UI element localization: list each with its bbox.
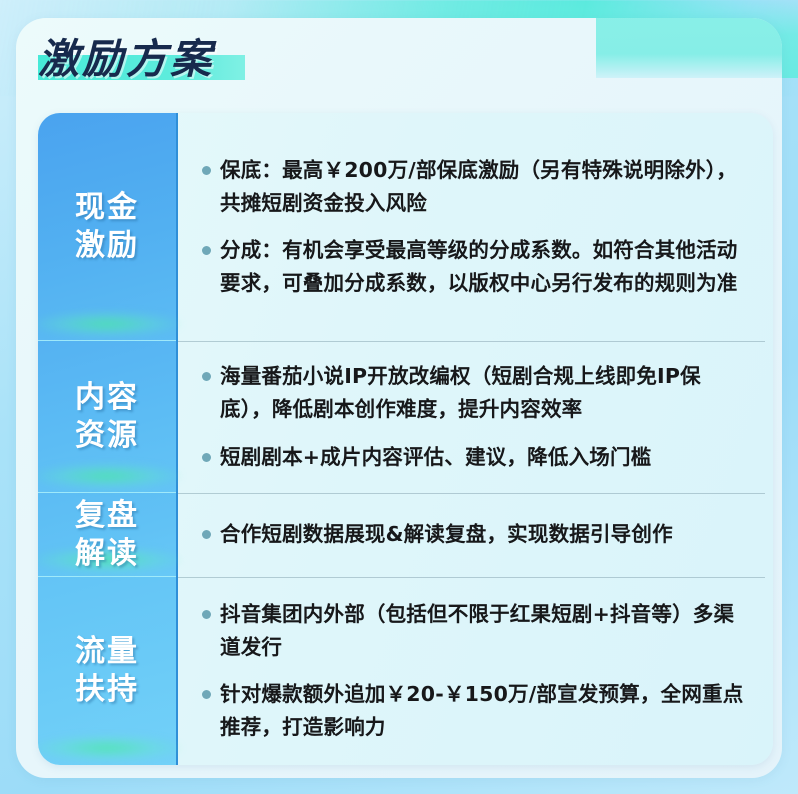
list-item-text: 保底：最高￥200万/部保底激励（另有特殊说明除外），共摊短剧资金投入风险 <box>220 154 747 220</box>
section-label-traffic-support[interactable]: 流量 扶持 <box>38 577 178 765</box>
section-label-text: 现金 激励 <box>75 189 139 266</box>
section-content-traffic-support: 抖音集团内外部（包括但不限于红果短剧+抖音等）多渠道发行 针对爆款额外追加￥20… <box>178 577 773 765</box>
section-label-text: 流量 扶持 <box>75 633 139 710</box>
section-content-review-interpretation: 合作短剧数据展现&解读复盘，实现数据引导创作 <box>178 493 773 577</box>
list-item: 针对爆款额外追加￥20-￥150万/部宣发预算，全网重点推荐，打造影响力 <box>202 678 747 744</box>
list-item-text: 短剧剧本+成片内容评估、建议，降低入场门槛 <box>220 441 651 474</box>
section-label-line1: 复盘 <box>75 497 139 535</box>
bullet-dot-icon <box>202 610 211 619</box>
page-title-group: 激励方案 <box>38 24 214 86</box>
bullet-dot-icon <box>202 372 211 381</box>
section-content-cash-incentive: 保底：最高￥200万/部保底激励（另有特殊说明除外），共摊短剧资金投入风险 分成… <box>178 113 773 341</box>
label-glow <box>38 735 182 761</box>
table-row: 复盘 解读 合作短剧数据展现&解读复盘，实现数据引导创作 <box>38 493 773 577</box>
bullet-dot-icon <box>202 453 211 462</box>
list-item-text: 针对爆款额外追加￥20-￥150万/部宣发预算，全网重点推荐，打造影响力 <box>220 678 747 744</box>
list-item: 海量番茄小说IP开放改编权（短剧合规上线即免IP保底），降低剧本创作难度，提升内… <box>202 360 747 426</box>
list-item: 短剧剧本+成片内容评估、建议，降低入场门槛 <box>202 441 747 474</box>
section-label-cash-incentive[interactable]: 现金 激励 <box>38 113 178 341</box>
table-row: 内容 资源 海量番茄小说IP开放改编权（短剧合规上线即免IP保底），降低剧本创作… <box>38 341 773 493</box>
section-label-line2: 扶持 <box>75 671 139 709</box>
label-glow <box>38 463 182 489</box>
section-label-line2: 解读 <box>75 535 139 573</box>
bullet-dot-icon <box>202 690 211 699</box>
list-item-text: 合作短剧数据展现&解读复盘，实现数据引导创作 <box>220 518 673 551</box>
section-label-line2: 激励 <box>75 227 139 265</box>
bullet-dot-icon <box>202 530 211 539</box>
incentive-table: 现金 激励 保底：最高￥200万/部保底激励（另有特殊说明除外），共摊短剧资金投… <box>38 113 773 765</box>
list-item: 合作短剧数据展现&解读复盘，实现数据引导创作 <box>202 518 747 551</box>
section-label-content-resources[interactable]: 内容 资源 <box>38 341 178 493</box>
section-label-line1: 流量 <box>75 633 139 671</box>
section-label-line1: 现金 <box>75 189 139 227</box>
section-label-text: 复盘 解读 <box>75 497 139 574</box>
page-title: 激励方案 <box>38 25 214 85</box>
bullet-dot-icon <box>202 166 211 175</box>
section-label-line2: 资源 <box>75 417 139 455</box>
list-item-text: 分成：有机会享受最高等级的分成系数。如符合其他活动要求，可叠加分成系数，以版权中… <box>220 234 747 300</box>
section-label-review-interpretation[interactable]: 复盘 解读 <box>38 493 178 577</box>
section-label-line1: 内容 <box>75 379 139 417</box>
table-row: 现金 激励 保底：最高￥200万/部保底激励（另有特殊说明除外），共摊短剧资金投… <box>38 113 773 341</box>
list-item-text: 海量番茄小说IP开放改编权（短剧合规上线即免IP保底），降低剧本创作难度，提升内… <box>220 360 747 426</box>
list-item: 分成：有机会享受最高等级的分成系数。如符合其他活动要求，可叠加分成系数，以版权中… <box>202 234 747 300</box>
list-item-text: 抖音集团内外部（包括但不限于红果短剧+抖音等）多渠道发行 <box>220 598 747 664</box>
table-row: 流量 扶持 抖音集团内外部（包括但不限于红果短剧+抖音等）多渠道发行 针对爆款额… <box>38 577 773 765</box>
section-content-content-resources: 海量番茄小说IP开放改编权（短剧合规上线即免IP保底），降低剧本创作难度，提升内… <box>178 341 773 493</box>
list-item: 保底：最高￥200万/部保底激励（另有特殊说明除外），共摊短剧资金投入风险 <box>202 154 747 220</box>
bullet-dot-icon <box>202 246 211 255</box>
section-label-text: 内容 资源 <box>75 379 139 456</box>
label-glow <box>38 311 182 337</box>
list-item: 抖音集团内外部（包括但不限于红果短剧+抖音等）多渠道发行 <box>202 598 747 664</box>
card-corner-notch <box>596 18 782 78</box>
